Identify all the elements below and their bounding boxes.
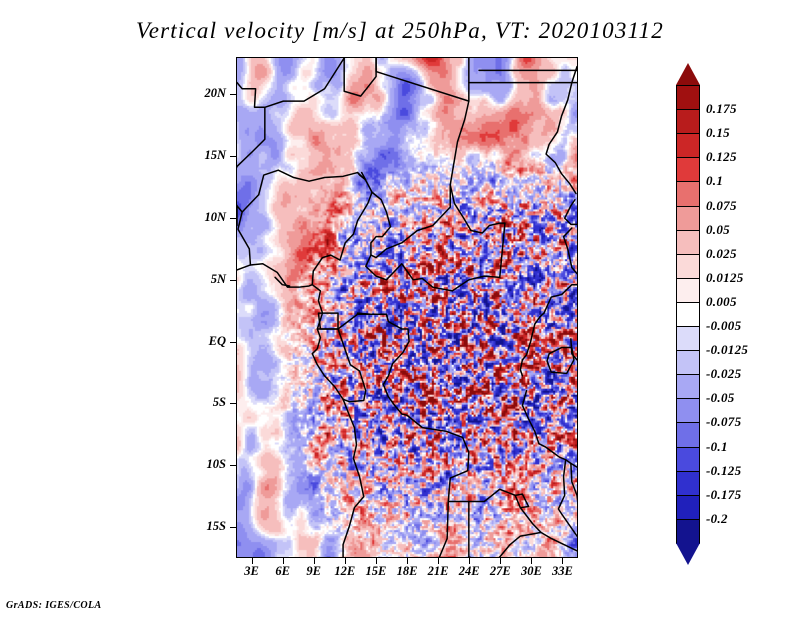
border-line bbox=[376, 58, 469, 101]
grads-credit: GrADS: IGES/COLA bbox=[6, 600, 102, 611]
colorbar: 0.1750.150.1250.10.0750.050.0250.01250.0… bbox=[676, 85, 700, 543]
page-title: Vertical velocity [m/s] at 250hPa, VT: 2… bbox=[0, 18, 800, 44]
colorbar-tick-label: 0.005 bbox=[706, 294, 737, 310]
y-axis-label: 15S bbox=[207, 519, 226, 534]
border-line bbox=[366, 223, 505, 291]
colorbar-tick-label: -0.025 bbox=[706, 366, 741, 382]
border-line bbox=[547, 348, 574, 374]
border-line bbox=[450, 101, 505, 233]
colorbar-over-arrow bbox=[676, 63, 700, 85]
y-axis-label: EQ bbox=[209, 334, 226, 349]
y-axis-label: 5N bbox=[211, 272, 226, 287]
colorbar-band bbox=[676, 133, 700, 158]
border-line bbox=[522, 324, 534, 360]
border-line bbox=[571, 463, 577, 532]
colorbar-band bbox=[676, 302, 700, 327]
border-line bbox=[338, 329, 366, 402]
map-plot-area bbox=[236, 57, 578, 558]
colorbar-tick-label: 0.1 bbox=[706, 173, 723, 189]
border-line bbox=[238, 195, 259, 265]
colorbar-band bbox=[676, 206, 700, 231]
border-line bbox=[265, 58, 344, 107]
y-axis-label: 10N bbox=[204, 210, 226, 225]
colorbar-tick-label: -0.2 bbox=[706, 511, 728, 527]
border-line bbox=[520, 360, 522, 376]
colorbar-tick-label: 0.05 bbox=[706, 222, 730, 238]
colorbar-tick-label: 0.025 bbox=[706, 246, 737, 262]
colorbar-tick-label: -0.175 bbox=[706, 487, 741, 503]
border-line bbox=[544, 285, 577, 313]
colorbar-band bbox=[676, 254, 700, 279]
colorbar-tick-label: -0.05 bbox=[706, 390, 735, 406]
colorbar-tick-label: 0.0125 bbox=[706, 270, 744, 286]
border-line bbox=[535, 313, 544, 324]
colorbar-band bbox=[676, 422, 700, 447]
border-line bbox=[482, 532, 541, 557]
y-axis-label: 15N bbox=[204, 148, 226, 163]
colorbar-band bbox=[676, 495, 700, 520]
border-line bbox=[344, 58, 376, 96]
border-line bbox=[565, 200, 577, 225]
colorbar-band bbox=[676, 278, 700, 303]
border-line bbox=[564, 228, 577, 274]
x-axis-label: 33E bbox=[542, 564, 582, 579]
border-line bbox=[469, 489, 577, 551]
border-line bbox=[312, 173, 372, 285]
colorbar-tick-label: 0.15 bbox=[706, 125, 730, 141]
colorbar-tick-label: 0.175 bbox=[706, 101, 737, 117]
colorbar-tick-label: -0.005 bbox=[706, 318, 741, 334]
border-line bbox=[558, 460, 577, 536]
colorbar-band bbox=[676, 447, 700, 472]
colorbar-band bbox=[676, 181, 700, 206]
border-line bbox=[358, 313, 387, 314]
colorbar-band bbox=[676, 398, 700, 423]
border-line bbox=[259, 170, 358, 195]
colorbar-tick-label: -0.0125 bbox=[706, 342, 748, 358]
colorbar-tick-label: 0.125 bbox=[706, 149, 737, 165]
colorbar-band bbox=[676, 109, 700, 134]
y-axis-label: 5S bbox=[213, 395, 226, 410]
border-line bbox=[522, 391, 539, 444]
colorbar-tick-label: 0.075 bbox=[706, 198, 737, 214]
colorbar-band bbox=[676, 471, 700, 496]
colorbar-under-arrow bbox=[676, 543, 700, 565]
border-line bbox=[317, 314, 469, 557]
colorbar-tick-label: -0.075 bbox=[706, 414, 741, 430]
colorbar-tick-label: -0.125 bbox=[706, 463, 741, 479]
border-line bbox=[237, 264, 312, 287]
border-line bbox=[546, 67, 577, 194]
colorbar-tick-label: -0.1 bbox=[706, 439, 728, 455]
border-line bbox=[371, 185, 450, 258]
colorbar-band bbox=[676, 374, 700, 399]
colorbar-band bbox=[676, 85, 700, 110]
colorbar-band bbox=[676, 350, 700, 375]
colorbar-band bbox=[676, 519, 700, 544]
y-axis-label: 20N bbox=[204, 86, 226, 101]
border-line bbox=[448, 502, 469, 557]
colorbar-band bbox=[676, 326, 700, 351]
colorbar-band bbox=[676, 230, 700, 255]
y-axis-label: 10S bbox=[207, 457, 226, 472]
colorbar-band bbox=[676, 157, 700, 182]
country-borders-overlay bbox=[237, 58, 577, 557]
